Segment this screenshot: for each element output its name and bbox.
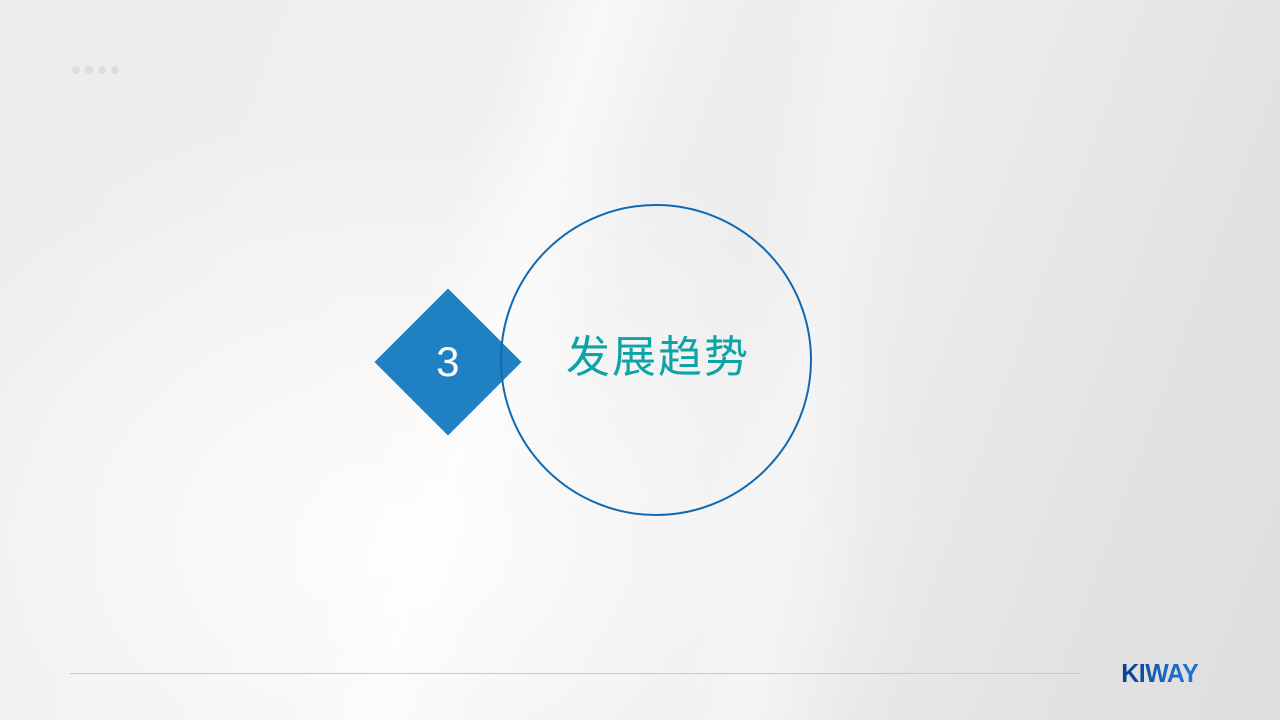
- section-number: 3: [396, 310, 500, 414]
- kiway-logo: KIWAY: [1121, 660, 1198, 686]
- section-title: 发展趋势: [566, 330, 750, 385]
- section-divider-graphic: 3 发展趋势: [0, 0, 1280, 720]
- presentation-slide: 3 发展趋势 KIWAY: [0, 0, 1280, 720]
- footer-divider: [70, 673, 1080, 674]
